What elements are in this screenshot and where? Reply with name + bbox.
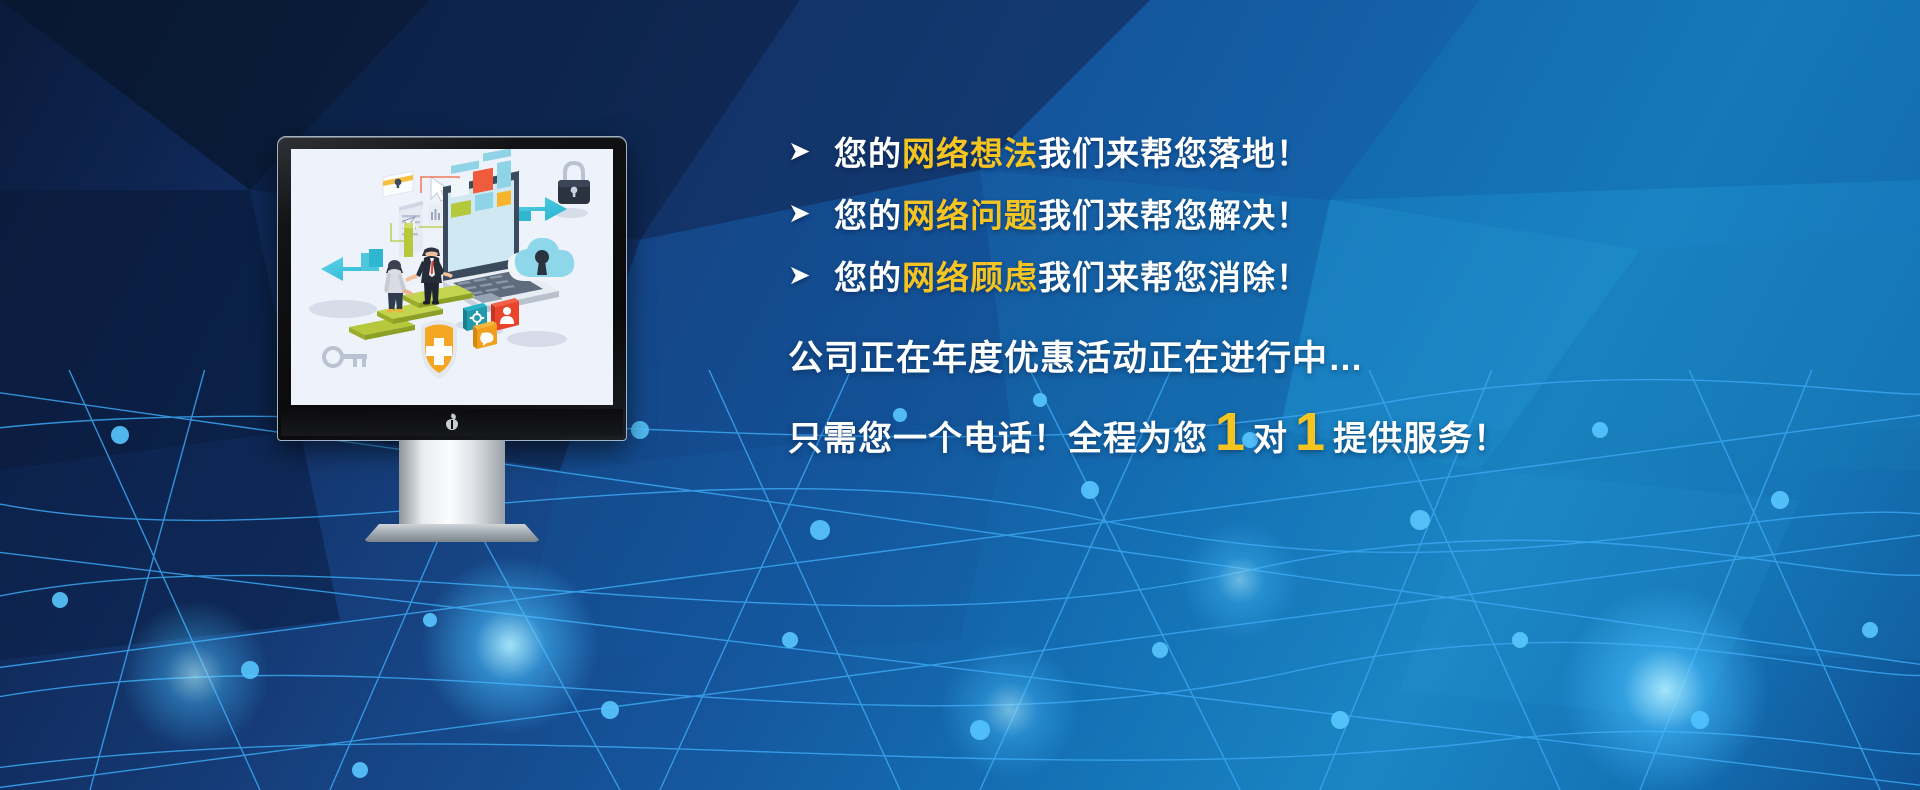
- chat-app-icon: [473, 321, 497, 349]
- bullet-line: ➤ 您的网络想法我们来帮您落地！: [788, 120, 1848, 182]
- desktop-monitor: [277, 136, 627, 441]
- bullet-line: ➤ 您的网络问题我们来帮您解决！: [788, 182, 1848, 244]
- monitor-chin: [281, 409, 623, 436]
- bullet-suffix: 我们来帮您消除！: [1038, 259, 1310, 296]
- bullet-suffix: 我们来帮您落地！: [1038, 135, 1310, 172]
- cta-text: 只需您一个电话！全程为您 1 对 1 提供服务！: [788, 411, 1848, 460]
- cta-number-second: 1: [1288, 411, 1333, 454]
- bullet-text: 您的网络想法我们来帮您落地！: [834, 127, 1310, 175]
- monitor-stand-neck: [399, 440, 505, 532]
- bullet-text: 您的网络顾虑我们来帮您消除！: [834, 251, 1310, 299]
- cta-lead: 只需您一个电话！全程为您: [788, 411, 1208, 460]
- bullet-prefix: 您的: [834, 259, 902, 296]
- monitor-screen: [291, 149, 613, 405]
- bullet-highlight: 网络顾虑: [902, 259, 1038, 296]
- arrow-bullet-icon: ➤: [788, 262, 834, 289]
- cta-number-first: 1: [1208, 411, 1253, 454]
- arrow-bullet-icon: ➤: [788, 200, 834, 227]
- arrow-bullet-icon: ➤: [788, 138, 834, 165]
- bullet-prefix: 您的: [834, 197, 902, 234]
- marketing-copy: ➤ 您的网络想法我们来帮您落地！ ➤ 您的网络问题我们来帮您解决！ ➤ 您的网络…: [788, 120, 1848, 460]
- cta-tail: 提供服务！: [1333, 411, 1508, 460]
- bullet-line: ➤ 您的网络顾虑我们来帮您消除！: [788, 244, 1848, 306]
- bullet-highlight: 网络想法: [902, 135, 1038, 172]
- document-list-icon: [399, 201, 423, 257]
- monitor-stand-foot: [363, 524, 541, 542]
- promo-banner: ➤ 您的网络想法我们来帮您落地！ ➤ 您的网络问题我们来帮您解决！ ➤ 您的网络…: [0, 0, 1920, 790]
- promo-text: 公司正在年度优惠活动正在进行中…: [788, 330, 1848, 381]
- bullet-text: 您的网络问题我们来帮您解决！: [834, 189, 1310, 237]
- chart-card-icon: [428, 202, 442, 226]
- bullet-suffix: 我们来帮您解决！: [1038, 197, 1310, 234]
- bullet-prefix: 您的: [834, 135, 902, 172]
- bullet-highlight: 网络问题: [902, 197, 1038, 234]
- cta-middle: 对: [1253, 411, 1288, 460]
- isometric-network-security-illustration: [291, 149, 613, 405]
- apple-logo-icon: [446, 416, 458, 430]
